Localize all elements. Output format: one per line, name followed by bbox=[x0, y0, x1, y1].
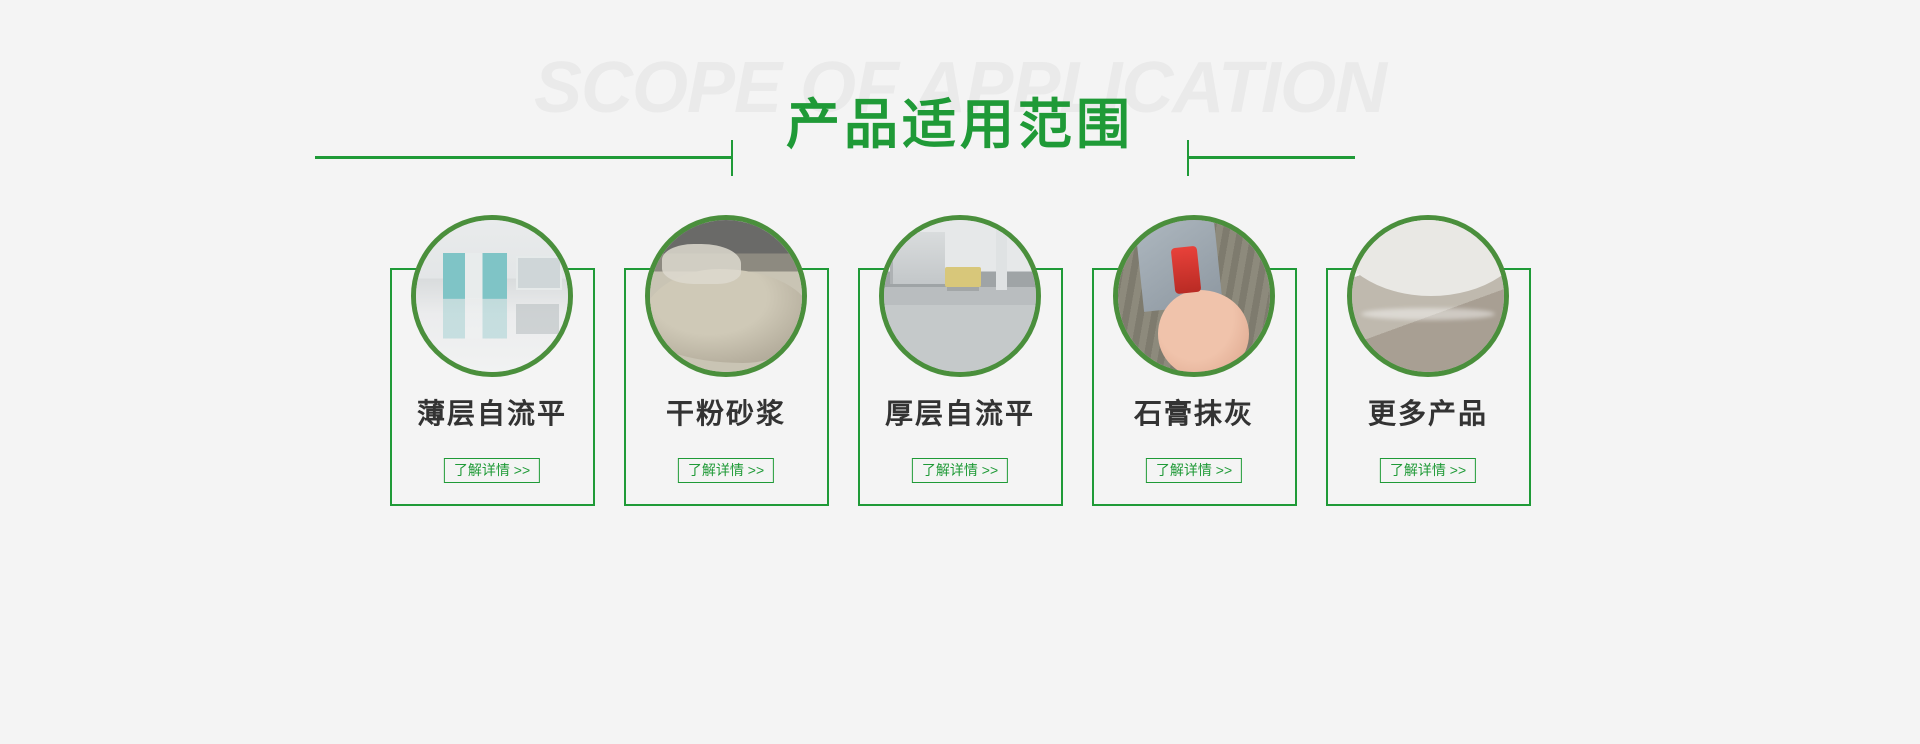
application-card-thick-self-leveling[interactable]: 厚层自流平 了解详情 >> bbox=[858, 215, 1063, 510]
dry-powder-mortar-image bbox=[650, 220, 802, 372]
card-thumbnail[interactable] bbox=[1113, 215, 1275, 377]
learn-more-button[interactable]: 了解详情 >> bbox=[912, 458, 1008, 483]
page-title: 产品适用范围 bbox=[0, 98, 1920, 152]
application-card-dry-mortar[interactable]: 干粉砂浆 了解详情 >> bbox=[624, 215, 829, 510]
title-rule-right bbox=[1188, 156, 1355, 159]
title-rule-left bbox=[315, 156, 732, 159]
application-card-more-products[interactable]: 更多产品 了解详情 >> bbox=[1326, 215, 1531, 510]
card-thumbnail[interactable] bbox=[1347, 215, 1509, 377]
smooth-plaster-closeup-image bbox=[1352, 220, 1504, 372]
application-card-gypsum-plaster[interactable]: 石膏抹灰 了解详情 >> bbox=[1092, 215, 1297, 510]
card-title: 干粉砂浆 bbox=[624, 397, 829, 431]
card-thumbnail[interactable] bbox=[879, 215, 1041, 377]
card-title: 薄层自流平 bbox=[390, 397, 595, 431]
thin-self-leveling-floor-image bbox=[416, 220, 568, 372]
notched-trowel-image bbox=[1118, 220, 1270, 372]
card-title: 更多产品 bbox=[1326, 397, 1531, 431]
window-shape bbox=[516, 256, 562, 289]
learn-more-button[interactable]: 了解详情 >> bbox=[1380, 458, 1476, 483]
window-reflection-shape bbox=[516, 304, 559, 334]
hand-shape bbox=[1158, 290, 1249, 377]
card-thumbnail[interactable] bbox=[645, 215, 807, 377]
industrial-hall-floor-image bbox=[884, 220, 1036, 372]
application-card-thin-self-leveling[interactable]: 薄层自流平 了解详情 >> bbox=[390, 215, 595, 510]
section-header: SCOPE OF APPLICATION 产品适用范围 bbox=[0, 0, 1920, 200]
learn-more-button[interactable]: 了解详情 >> bbox=[678, 458, 774, 483]
application-cards-row: 薄层自流平 了解详情 >> 干粉砂浆 了解详情 >> 厚层自流平 bbox=[0, 215, 1920, 515]
pillar-shape bbox=[996, 229, 1007, 290]
card-thumbnail[interactable] bbox=[411, 215, 573, 377]
card-title: 石膏抹灰 bbox=[1092, 397, 1297, 431]
card-title: 厚层自流平 bbox=[858, 397, 1063, 431]
scope-of-application-section: SCOPE OF APPLICATION 产品适用范围 薄层自流平 了解详情 >… bbox=[0, 0, 1920, 744]
learn-more-button[interactable]: 了解详情 >> bbox=[1146, 458, 1242, 483]
learn-more-button[interactable]: 了解详情 >> bbox=[444, 458, 540, 483]
